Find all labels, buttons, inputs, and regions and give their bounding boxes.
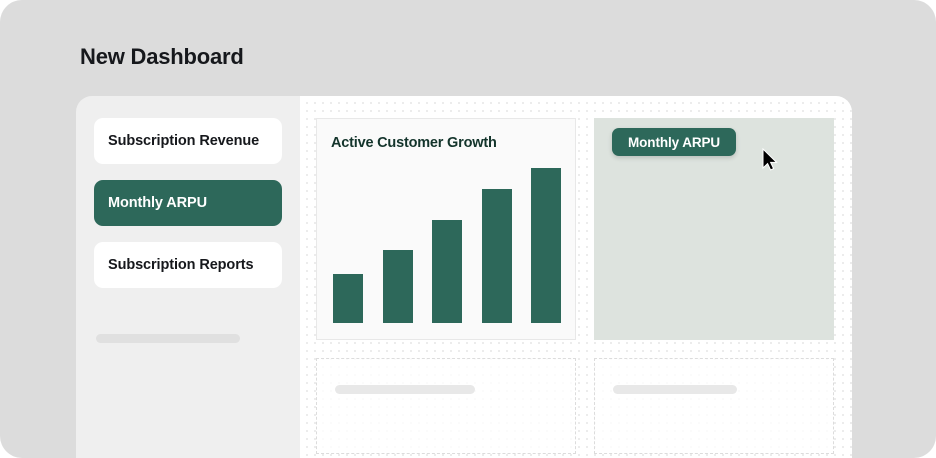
app-stage: New Dashboard Subscription Revenue Month…	[0, 0, 936, 458]
dashboard-canvas[interactable]: Active Customer Growth Monthly ARPU	[300, 96, 852, 458]
chart-card-active-customer-growth[interactable]: Active Customer Growth	[316, 118, 576, 340]
sidebar-item-label: Subscription Revenue	[108, 133, 259, 149]
bar-2	[383, 250, 413, 323]
bar-chart	[333, 165, 561, 323]
bar-5	[531, 168, 561, 323]
chart-title: Active Customer Growth	[331, 135, 561, 151]
drag-chip-monthly-arpu[interactable]: Monthly ARPU	[612, 128, 736, 156]
sidebar-item-label: Subscription Reports	[108, 257, 253, 273]
sidebar-item-monthly-arpu[interactable]: Monthly ARPU	[94, 180, 282, 226]
sidebar-item-subscription-revenue[interactable]: Subscription Revenue	[94, 118, 282, 164]
page-title: New Dashboard	[80, 44, 244, 70]
sidebar-skeleton-bar	[96, 334, 240, 343]
bar-3	[432, 220, 462, 323]
bar-1	[333, 274, 363, 323]
placeholder-skeleton-bar	[335, 385, 475, 394]
placeholder-card-left[interactable]	[316, 358, 576, 454]
placeholder-skeleton-bar	[613, 385, 737, 394]
drag-chip-label: Monthly ARPU	[628, 135, 720, 150]
sidebar-item-label: Monthly ARPU	[108, 195, 207, 211]
sidebar-item-subscription-reports[interactable]: Subscription Reports	[94, 242, 282, 288]
dashboard-window: Subscription Revenue Monthly ARPU Subscr…	[76, 96, 852, 458]
bar-4	[482, 189, 512, 323]
placeholder-card-right[interactable]	[594, 358, 834, 454]
arrow-pointer-icon	[762, 148, 780, 172]
sidebar: Subscription Revenue Monthly ARPU Subscr…	[76, 96, 300, 458]
